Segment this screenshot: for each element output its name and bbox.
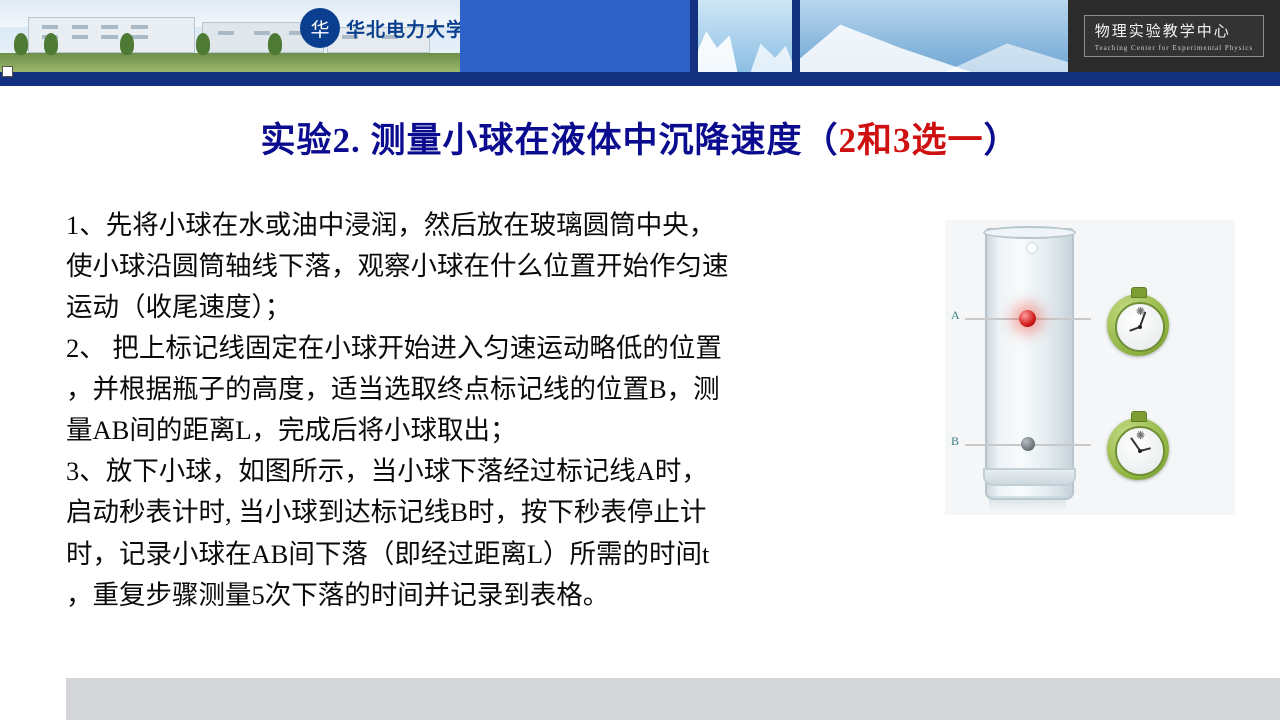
lab-center-subtitle: Teaching Center for Experimental Physics (1095, 44, 1253, 52)
stopwatch-lower-icon (1107, 418, 1169, 480)
cylinder-rim (983, 226, 1076, 239)
slide: 华 华北电力大学 物理实验教学中心 Teaching Center for Ex… (0, 0, 1280, 720)
page-title: 实验2. 测量小球在液体中沉降速度（2和3选一） (0, 112, 1280, 163)
stopwatch-crown (1131, 411, 1147, 422)
divider-1 (690, 0, 698, 72)
instruction-line: 时，记录小球在AB间下落（即经过距离L）所需的时间t (66, 534, 906, 575)
campus-photo-band: 华 华北电力大学 (0, 0, 460, 72)
instruction-list: 1、先将小球在水或油中浸润，然后放在玻璃圆筒中央， 使小球沿圆筒轴线下落，观察小… (66, 205, 906, 616)
instruction-line: 量AB间的距离L，完成后将小球取出； (66, 410, 906, 451)
placeholder-marker (2, 66, 13, 77)
university-emblem-icon: 华 (300, 8, 340, 48)
experiment-illustration: A B (945, 220, 1235, 515)
falling-ball-glowing-icon (1019, 310, 1036, 327)
page-title-paren-open: （ (802, 121, 838, 160)
glass-cylinder-icon (985, 228, 1074, 500)
page-title-paren-close: ） (984, 121, 1020, 160)
blue-panel (460, 0, 690, 72)
bubble-icon (1026, 242, 1038, 254)
stopwatch-dial (1115, 302, 1165, 352)
lab-center-title: 物理实验教学中心 (1095, 20, 1253, 41)
page-title-accent: 2和3选一 (839, 121, 984, 160)
page-title-main: 实验2. 测量小球在液体中沉降速度 (260, 121, 802, 160)
banner-underline (0, 72, 1280, 86)
stopwatch-upper-icon (1107, 294, 1169, 356)
stopwatch-pin (1138, 449, 1142, 453)
instruction-line: 3、放下小球，如图所示，当小球下落经过标记线A时， (66, 451, 906, 492)
instruction-line: 1、先将小球在水或油中浸润，然后放在玻璃圆筒中央， (66, 205, 906, 246)
stopwatch-crown (1131, 287, 1147, 298)
instruction-line: 启动秒表计时, 当小球到达标记线B时，按下秒表停止计 (66, 492, 906, 533)
mark-label-a: A (951, 308, 960, 323)
instruction-line: 使小球沿圆筒轴线下落，观察小球在什么位置开始作匀速 (66, 246, 906, 287)
lab-center-panel: 物理实验教学中心 Teaching Center for Experimenta… (1068, 0, 1280, 72)
footer-bar (66, 678, 1280, 720)
instruction-line: ，并根据瓶子的高度，适当选取终点标记线的位置B，测 (66, 369, 906, 410)
stopwatch-pin (1138, 325, 1142, 329)
cylinder-reflection (989, 496, 1066, 512)
mark-label-b: B (951, 434, 959, 449)
instruction-line: 运动（收尾速度）； (66, 287, 906, 328)
abstract-wave-band (698, 0, 792, 72)
lab-center-plate: 物理实验教学中心 Teaching Center for Experimenta… (1084, 15, 1264, 57)
cylinder-base (983, 468, 1076, 486)
university-name: 华北电力大学 (346, 15, 460, 42)
photo-lawn (0, 53, 460, 72)
stopwatch-dial (1115, 426, 1165, 476)
falling-ball-icon (1021, 437, 1035, 451)
instruction-line: 2、 把上标记线固定在小球开始进入匀速运动略低的位置 (66, 328, 906, 369)
university-logo: 华 华北电力大学 (300, 8, 460, 48)
header-banner: 华 华北电力大学 物理实验教学中心 Teaching Center for Ex… (0, 0, 1280, 72)
divider-2 (792, 0, 800, 72)
abstract-ridge-band (800, 0, 1068, 72)
instruction-line: ，重复步骤测量5次下落的时间并记录到表格。 (66, 575, 906, 616)
